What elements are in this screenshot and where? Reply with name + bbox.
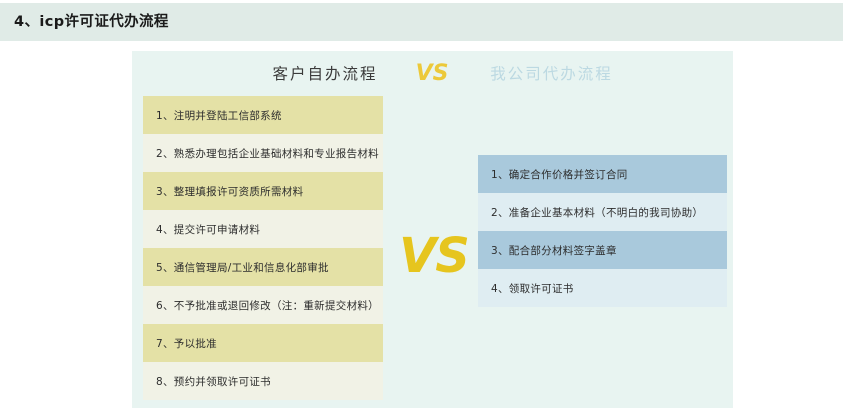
page-title: 4、icp许可证代办流程 [14,15,169,30]
list-item: 1、确定合作价格并签订合同 [478,155,727,193]
section-header: 4、icp许可证代办流程 [0,3,843,41]
list-item: 6、不予批准或退回修改（注：重新提交材料） [143,286,383,324]
list-item: 2、熟悉办理包括企业基础材料和专业报告材料 [143,134,383,172]
center-vs-label: VS [384,227,484,285]
heading-vs-label: VS [404,59,460,89]
left-flow-column: 1、注明并登陆工信部系统 2、熟悉办理包括企业基础材料和专业报告材料 3、整理填… [143,96,383,400]
list-item: 1、注明并登陆工信部系统 [143,96,383,134]
list-item: 3、配合部分材料签字盖章 [478,231,727,269]
list-item: 7、予以批准 [143,324,383,362]
heading-customer-self-process: 客户自办流程 [250,59,400,89]
diagram-heading-row: 客户自办流程 VS 我公司代办流程 [132,59,733,91]
list-item: 4、提交许可申请材料 [143,210,383,248]
list-item: 4、领取许可证书 [478,269,727,307]
heading-our-agency-process: 我公司代办流程 [464,59,639,89]
list-item: 3、整理填报许可资质所需材料 [143,172,383,210]
right-flow-column: 1、确定合作价格并签订合同 2、准备企业基本材料（不明白的我司协助） 3、配合部… [478,155,727,307]
list-item: 2、准备企业基本材料（不明白的我司协助） [478,193,727,231]
list-item: 8、预约并领取许可证书 [143,362,383,400]
icp-process-comparison-diagram: 客户自办流程 VS 我公司代办流程 VS 1、注明并登陆工信部系统 2、熟悉办理… [132,51,733,408]
list-item: 5、通信管理局/工业和信息化部审批 [143,248,383,286]
